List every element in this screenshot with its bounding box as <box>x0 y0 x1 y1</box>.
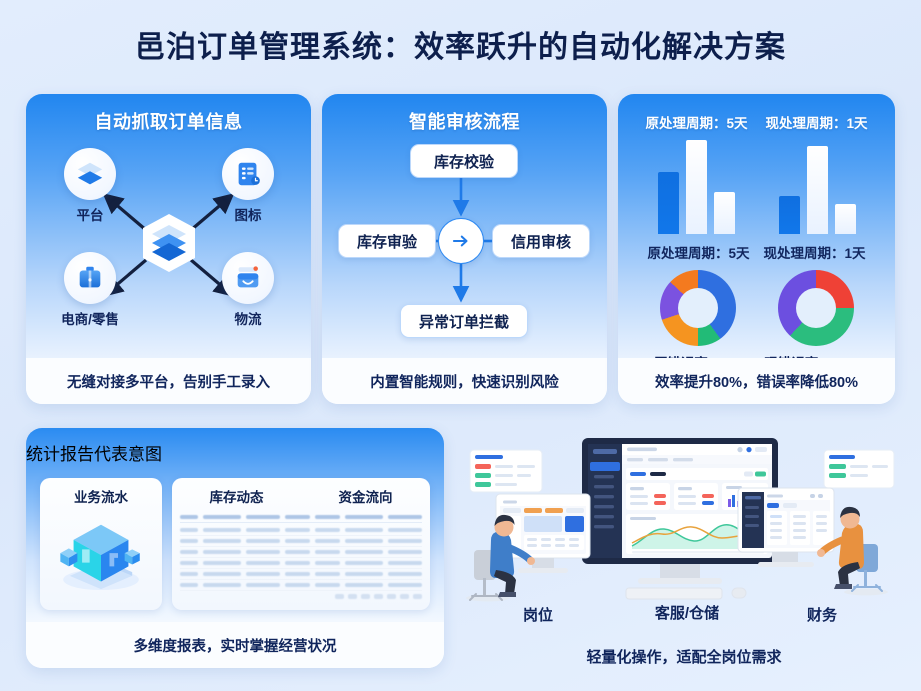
metrics-mid-labels: 原处理周期：5天 现处理周期：1天 <box>618 242 895 262</box>
panel-right-titles: 库存动态 资金流向 <box>172 478 430 506</box>
table-row <box>180 536 422 547</box>
node-logistics-label: 物流 <box>206 308 290 328</box>
workstation-illustration: 岗位 客服/仓储 财务 轻量化操作，适配全岗位需求 <box>452 428 916 673</box>
layers-icon <box>75 159 105 189</box>
donut-old-error-rate <box>660 270 736 346</box>
card-review-flow-caption: 内置智能规则，快速识别风险 <box>322 358 607 404</box>
report-panels: 业务流水 <box>40 478 430 610</box>
card-metrics: 原处理周期：5天 现处理周期：1天 原处理周期：5天 现处理周期：1天 <box>618 94 895 404</box>
panel-business-flow[interactable]: 业务流水 <box>40 478 162 610</box>
table-row <box>180 580 422 591</box>
page-title: 邑泊订单管理系统：效率跃升的自动化解决方案 <box>0 22 921 66</box>
role-label-finance: 财务 <box>782 604 862 625</box>
card-report-caption: 多维度报表，实时掌握经营状况 <box>26 622 444 668</box>
document-list-icon <box>233 159 263 189</box>
flow-step-credit-review[interactable]: 信用审核 <box>492 224 590 258</box>
arrow-right-icon <box>438 218 484 264</box>
card-auto-capture: 自动抓取订单信息 <box>26 94 311 404</box>
card-metrics-caption: 效率提升80%，错误率降低80% <box>618 358 895 404</box>
table-row <box>180 569 422 580</box>
cycle-bar-chart <box>618 140 895 234</box>
metric-old-cycle-top: 原处理周期：5天 <box>645 112 747 132</box>
role-label-service-warehouse: 客服/仓储 <box>612 602 762 623</box>
layers-hub-icon <box>138 212 200 274</box>
card-review-flow-title: 智能审核流程 <box>322 94 607 134</box>
table-row <box>180 525 422 536</box>
panel-inventory-title: 库存动态 <box>210 486 264 506</box>
bar-new-c <box>835 204 856 234</box>
bar-old-c <box>714 192 735 234</box>
table-row <box>180 558 422 569</box>
metric-old-cycle-mid: 原处理周期：5天 <box>647 242 749 262</box>
card-auto-capture-title: 自动抓取订单信息 <box>26 94 311 134</box>
card-report: 统计报告代表意图 业务流水 <box>26 428 444 668</box>
bar-new-b <box>807 146 828 234</box>
workstation-caption: 轻量化操作，适配全岗位需求 <box>452 646 916 667</box>
table-row <box>180 547 422 558</box>
donut-new-error-rate <box>778 270 854 346</box>
error-rate-donuts <box>618 270 895 346</box>
node-icon-catalog[interactable] <box>222 148 274 200</box>
card-auto-capture-caption: 无缝对接多平台，告别手工录入 <box>26 358 311 404</box>
bar-group-new <box>779 140 856 234</box>
briefcase-icon <box>75 263 105 293</box>
flow-step-inventory-check[interactable]: 库存校验 <box>410 144 518 178</box>
bar-old-a <box>658 172 679 234</box>
hub-diagram: 平台 图标 <box>26 134 311 356</box>
node-icon-catalog-label: 图标 <box>206 204 290 224</box>
panel-inventory-funds[interactable]: 库存动态 资金流向 <box>172 478 430 610</box>
bar-new-a <box>779 196 800 234</box>
bar-old-b <box>686 140 707 234</box>
node-platform[interactable] <box>64 148 116 200</box>
metric-new-cycle-top: 现处理周期：1天 <box>766 112 868 132</box>
panel-funds-title: 资金流向 <box>339 486 393 506</box>
node-platform-label: 平台 <box>48 204 132 224</box>
infographic-page: 邑泊订单管理系统：效率跃升的自动化解决方案 自动抓取订单信息 <box>0 0 921 691</box>
delivery-box-icon <box>233 263 263 293</box>
flow-step-abnormal-intercept[interactable]: 异常订单拦截 <box>400 304 528 338</box>
flow-step-inventory-verify[interactable]: 库存审验 <box>338 224 436 258</box>
node-ecommerce-retail[interactable] <box>64 252 116 304</box>
role-label-position: 岗位 <box>498 604 578 625</box>
bar-group-old <box>658 140 735 234</box>
node-logistics[interactable] <box>222 252 274 304</box>
panel-business-flow-title: 业务流水 <box>40 478 162 506</box>
page-title-bar: 邑泊订单管理系统：效率跃升的自动化解决方案 <box>0 22 921 66</box>
metric-new-cycle-mid: 现处理周期：1天 <box>764 242 866 262</box>
report-data-table <box>180 512 422 604</box>
node-ecommerce-retail-label: 电商/零售 <box>38 308 142 328</box>
table-header-row <box>180 512 422 523</box>
workstation-scene <box>452 428 916 628</box>
card-review-flow: 智能审核流程 库存校验 库存审验 信用审核 异常订单拦截 <box>322 94 607 404</box>
metrics-top-labels: 原处理周期：5天 现处理周期：1天 <box>618 112 895 132</box>
review-flowchart: 库存校验 库存审验 信用审核 异常订单拦截 <box>322 138 607 358</box>
card-report-title: 统计报告代表意图 <box>26 428 444 465</box>
table-pagination[interactable] <box>180 594 422 599</box>
isometric-cube-icon <box>40 504 162 608</box>
